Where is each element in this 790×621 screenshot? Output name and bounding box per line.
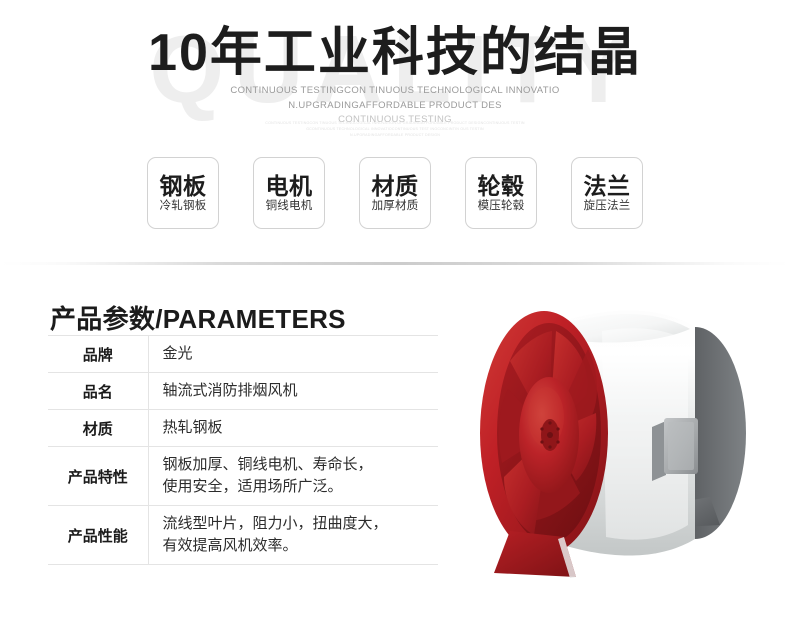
param-value: 热轧钢板 — [148, 410, 438, 447]
param-value-line: 热轧钢板 — [163, 417, 439, 439]
parameters-table: 品牌 金光 品名 轴流式消防排烟风机 材质 热轧钢板 产品特性 — [48, 335, 438, 565]
feature-title: 法兰 — [584, 174, 631, 198]
hero-subtitle-line-2: N.UPGRADINGAFFORDABLE PRODUCT DES — [0, 99, 790, 114]
param-value: 流线型叶片，阻力小，扭曲度大， 有效提高风机效率。 — [148, 506, 438, 565]
feature-subtitle: 冷轧钢板 — [160, 200, 207, 213]
param-value-line: 金光 — [163, 343, 439, 365]
hero-microtext-line-3: N.UPGRADINGAFFORDABLE PRODUCT DESIGN — [0, 132, 790, 138]
param-value-line: 流线型叶片，阻力小，扭曲度大， — [163, 513, 439, 535]
table-row: 材质 热轧钢板 — [48, 410, 438, 447]
product-image-axial-fan — [452, 285, 782, 595]
product-detail-page: QUALITY 10年工业科技的结晶 CONTINUOUS TESTINGCON… — [0, 0, 790, 621]
feature-box-hub: 轮毂 模压轮毂 — [465, 157, 537, 229]
param-key: 品名 — [48, 373, 148, 410]
feature-title: 材质 — [372, 174, 419, 198]
param-value-line: 使用安全，适用场所广泛。 — [163, 476, 439, 498]
table-row: 品名 轴流式消防排烟风机 — [48, 373, 438, 410]
feature-subtitle: 旋压法兰 — [584, 200, 631, 213]
feature-box-motor: 电机 铜线电机 — [253, 157, 325, 229]
feature-box-material: 材质 加厚材质 — [359, 157, 431, 229]
section-divider — [0, 262, 790, 265]
param-key: 材质 — [48, 410, 148, 447]
hub-bolt — [548, 421, 551, 424]
feature-box-list: 钢板 冷轧钢板 电机 铜线电机 材质 加厚材质 轮毂 模压轮毂 法兰 旋压法兰 — [0, 157, 790, 229]
feature-box-steel-plate: 钢板 冷轧钢板 — [147, 157, 219, 229]
param-key: 产品性能 — [48, 506, 148, 565]
hub-bolt — [540, 440, 543, 443]
table-row: 品牌 金光 — [48, 336, 438, 373]
param-value-line: 轴流式消防排烟风机 — [163, 380, 439, 402]
feature-title: 电机 — [266, 174, 313, 198]
param-key: 产品特性 — [48, 447, 148, 506]
param-value: 轴流式消防排烟风机 — [148, 373, 438, 410]
hero-subtitle-line-1: CONTINUOUS TESTINGCON TINUOUS TECHNOLOGI… — [0, 84, 790, 99]
param-value: 金光 — [148, 336, 438, 373]
feature-subtitle: 加厚材质 — [372, 200, 419, 213]
table-row: 产品特性 钢板加厚、铜线电机、寿命长， 使用安全，适用场所广泛。 — [48, 447, 438, 506]
feature-subtitle: 模压轮毂 — [478, 200, 525, 213]
feature-subtitle: 铜线电机 — [266, 200, 313, 213]
axial-fan-illustration — [452, 285, 782, 595]
junction-box — [652, 418, 698, 481]
hub-bolt — [548, 445, 551, 448]
hero-microtext: CONTINUOUS TESTINGCON TINUOUS TECHNOLOGI… — [0, 120, 790, 139]
hub-bolt — [556, 427, 559, 430]
table-row: 产品性能 流线型叶片，阻力小，扭曲度大， 有效提高风机效率。 — [48, 506, 438, 565]
hub-bolt — [556, 440, 559, 443]
parameters-heading: 产品参数/PARAMETERS — [50, 299, 346, 336]
param-value-line: 有效提高风机效率。 — [163, 535, 439, 557]
param-value: 钢板加厚、铜线电机、寿命长， 使用安全，适用场所广泛。 — [148, 447, 438, 506]
param-key: 品牌 — [48, 336, 148, 373]
hub-bolt — [540, 427, 543, 430]
hero-title: 10年工业科技的结晶 — [0, 24, 790, 84]
feature-title: 钢板 — [160, 174, 207, 198]
feature-title: 轮毂 — [478, 174, 525, 198]
hero-banner: QUALITY 10年工业科技的结晶 CONTINUOUS TESTINGCON… — [0, 0, 790, 263]
hub-center-bolt — [547, 432, 553, 438]
param-value-line: 钢板加厚、铜线电机、寿命长， — [163, 454, 439, 476]
feature-box-flange: 法兰 旋压法兰 — [571, 157, 643, 229]
